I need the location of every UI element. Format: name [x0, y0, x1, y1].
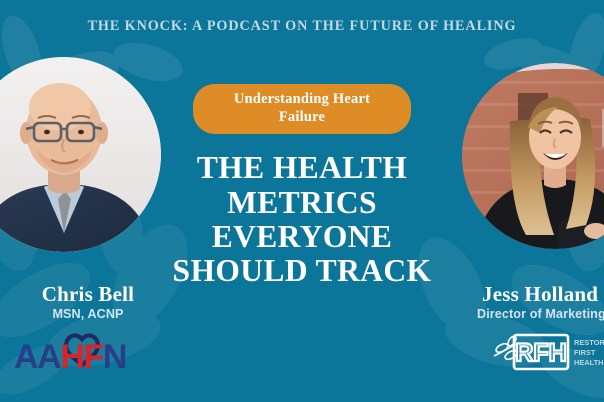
- rfh-tagline-line-2: FIRST: [574, 348, 596, 357]
- rfh-tagline-line-1: RESTORE: [574, 338, 604, 347]
- aahfn-part-aa: AA: [14, 338, 60, 376]
- episode-title-line-4: SHOULD TRACK: [148, 254, 456, 288]
- rfh-monogram: RFH: [515, 339, 566, 367]
- speaker-role-left: MSN, ACNP: [0, 307, 176, 321]
- topic-badge-line-1: Understanding Heart: [234, 91, 370, 107]
- speaker-role-right: Director of Marketing: [477, 307, 604, 321]
- podcast-episode-graphic: THE KNOCK: A PODCAST ON THE FUTURE OF HE…: [0, 0, 604, 402]
- episode-title-line-3: EVERYONE: [148, 220, 456, 254]
- speaker-name-right: Jess Holland: [482, 282, 598, 307]
- episode-title-line-2: METRICS: [148, 186, 456, 220]
- speaker-photo-right: [462, 63, 604, 249]
- episode-title: THE HEALTH METRICS EVERYONE SHOULD TRACK: [148, 151, 456, 288]
- speaker-photo-left: [0, 57, 161, 252]
- speaker-name-left: Chris Bell: [0, 282, 176, 307]
- aahfn-wordmark: AAHFN: [14, 340, 126, 374]
- aahfn-part-hf: HF: [60, 338, 103, 376]
- rfh-tagline-line-3: HEALTH: [574, 358, 603, 367]
- episode-title-line-1: THE HEALTH: [148, 151, 456, 185]
- aahfn-part-n: N: [103, 338, 126, 376]
- show-title: THE KNOCK: A PODCAST ON THE FUTURE OF HE…: [0, 18, 604, 35]
- topic-badge-line-2: Failure: [279, 109, 325, 125]
- rfh-logo: RFH RESTORE FIRST HEALTH: [492, 330, 604, 374]
- episode-content: Understanding Heart Failure THE HEALTH M…: [148, 84, 456, 288]
- aahfn-logo: AAHFN: [14, 328, 134, 376]
- topic-badge: Understanding Heart Failure: [193, 84, 411, 134]
